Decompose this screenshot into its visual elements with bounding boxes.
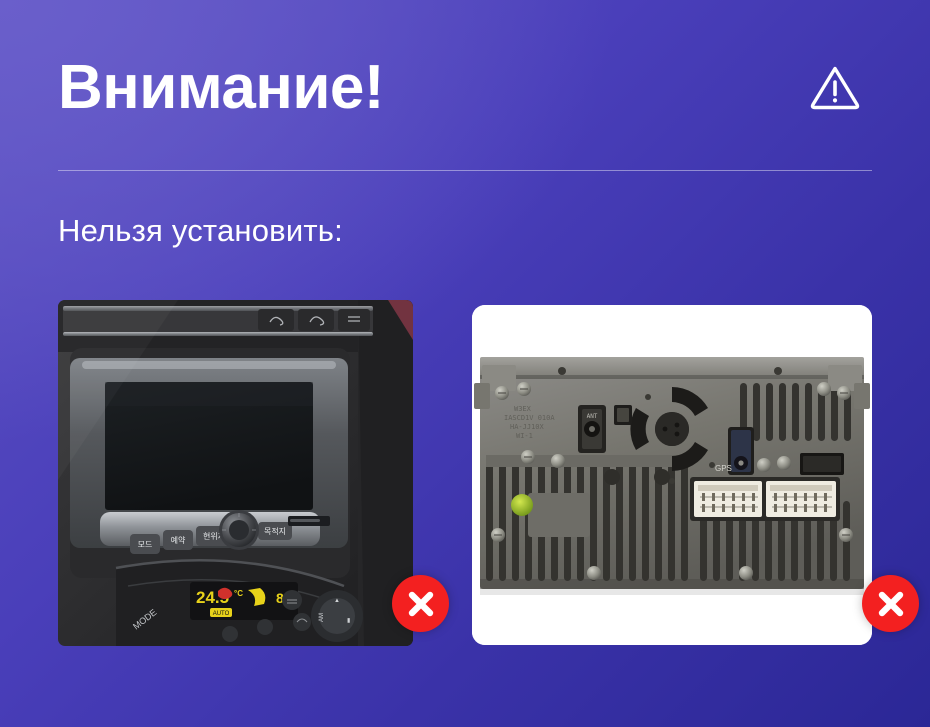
- svg-text:AUTO: AUTO: [213, 611, 230, 617]
- warning-slide: Внимание! Нельзя установить:: [0, 0, 930, 727]
- car-dashboard-photo: 모드 예약 현위치 목적지: [58, 300, 413, 646]
- x-mark-badge: [392, 575, 449, 632]
- svg-text:AM: AM: [319, 613, 325, 622]
- header-divider: [58, 170, 872, 171]
- svg-text:▮: ▮: [347, 618, 350, 624]
- x-mark-badge: [862, 575, 919, 632]
- svg-text:GPS: GPS: [715, 464, 732, 473]
- svg-text:예약: 예약: [171, 535, 186, 545]
- svg-text:W3EX: W3EX: [514, 405, 532, 413]
- section-subtitle: Нельзя установить:: [58, 212, 343, 250]
- svg-text:°C: °C: [234, 589, 243, 598]
- slide-header: Внимание!: [58, 52, 872, 124]
- svg-text:모드: 모드: [138, 540, 153, 549]
- svg-text:IASCD1V 010A: IASCD1V 010A: [504, 414, 555, 422]
- photo-gallery: 모드 예약 현위치 목적지: [58, 300, 872, 646]
- svg-text:ANT: ANT: [587, 413, 598, 420]
- head-unit-rear-photo: W3EX IASCD1V 010A HA-JJ10X WI-1 ANT: [472, 305, 872, 645]
- photo-card-car-dashboard[interactable]: 모드 예약 현위치 목적지: [58, 300, 413, 646]
- photo-card-head-unit-rear[interactable]: W3EX IASCD1V 010A HA-JJ10X WI-1 ANT: [472, 305, 872, 645]
- warning-triangle-icon: [808, 61, 862, 115]
- page-title: Внимание!: [58, 55, 384, 121]
- svg-text:▲: ▲: [334, 598, 340, 604]
- svg-text:목적지: 목적지: [264, 526, 286, 536]
- svg-text:HA-JJ10X: HA-JJ10X: [510, 423, 545, 431]
- svg-text:WI-1: WI-1: [516, 432, 533, 440]
